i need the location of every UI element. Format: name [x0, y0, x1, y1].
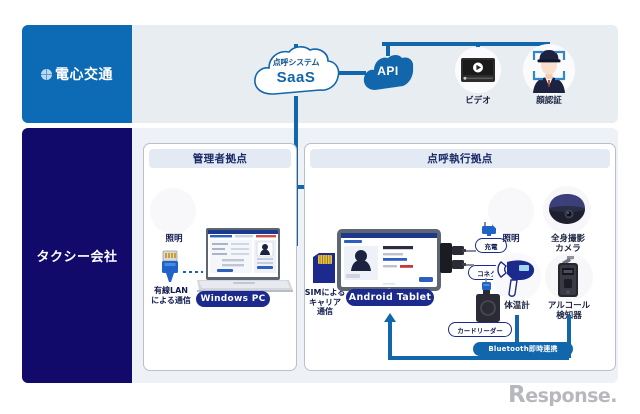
connector-bluetooth-bus [388, 356, 569, 360]
panel-admin-title: 管理者拠点 [193, 151, 248, 166]
card-reader-label: カードリーダー [457, 325, 503, 335]
watermark-text: esponse. [525, 385, 617, 407]
face-recognition-icon [526, 47, 572, 93]
watermark: Response. [508, 382, 617, 408]
segment-label-block: タクシー会社 [22, 128, 132, 383]
card-reader-pill: カードリーダー [448, 322, 512, 337]
thermometer-circle [493, 253, 541, 301]
sim-card-icon [310, 253, 338, 285]
lighting-left [150, 188, 200, 234]
connector-top-bus [382, 42, 548, 46]
cloud-system-label: 点呼システム [250, 57, 342, 68]
face-label: 顔認証 [514, 97, 584, 107]
arrow-up-tablet [384, 309, 396, 318]
alcohol-circle [545, 253, 593, 301]
alcohol-detector-icon [550, 255, 588, 299]
android-tablet-illustration [337, 229, 441, 295]
video-label: ビデオ [443, 97, 513, 107]
windows-pc-pill: Windows PC [196, 291, 270, 307]
api-label: API [362, 64, 414, 78]
video-icon-circle [455, 47, 501, 93]
lan-label-line1: 有線LAN [154, 286, 188, 295]
panel-rollcall-header: 点呼執行拠点 [310, 149, 610, 168]
laptop-icon [197, 228, 293, 296]
lighting-left-label: 照明 [150, 234, 198, 244]
connector-charge-hub [466, 250, 476, 252]
connector-bt-to-tablet [388, 316, 392, 360]
dome-camera-icon [547, 193, 587, 227]
tablet-icon [337, 229, 441, 295]
diagram-canvas: 電心交通 タクシー会社 点呼システム SaaS API [0, 0, 640, 414]
sim-label-line3: 通信 [317, 307, 333, 316]
android-tablet-pill: Android Tablet [346, 289, 434, 306]
lighting-right [488, 188, 538, 234]
windows-pc-illustration [197, 228, 293, 296]
windows-pc-label: Windows PC [200, 294, 265, 304]
cloud-saas-label: SaaS [250, 69, 342, 86]
company-logo-block: 電心交通 [22, 25, 132, 123]
watermark-initial: R [508, 382, 525, 408]
video-player-icon [461, 58, 495, 82]
camera-circle [543, 186, 591, 234]
panel-rollcall-title: 点呼執行拠点 [427, 151, 492, 166]
usb-hub-icon [440, 243, 466, 273]
bluetooth-label: Bluetooth即時連携 [488, 344, 557, 354]
ethernet-plug-wrap [157, 250, 183, 282]
globe-icon [41, 69, 52, 80]
face-icon-circle [523, 44, 575, 96]
segment-label: タクシー会社 [36, 246, 117, 265]
lighting-right-label: 照明 [487, 234, 535, 244]
lan-label: 有線LAN による通信 [146, 286, 196, 305]
connector-hub-card [466, 264, 474, 266]
alcohol-label-line1: アルコール [548, 301, 590, 311]
api-cloud: API [362, 52, 414, 94]
camera-label: 全身撮影 カメラ [540, 235, 596, 255]
saas-cloud: 点呼システム SaaS [250, 44, 342, 100]
panel-admin-header: 管理者拠点 [149, 149, 291, 168]
company-name: 電心交通 [55, 64, 113, 84]
thermometer-gun-icon [495, 256, 539, 298]
camera-label-line1: 全身撮影 [551, 234, 585, 244]
sim-card-wrap [310, 253, 338, 285]
usb-hub [440, 243, 466, 273]
android-tablet-label: Android Tablet [349, 292, 431, 303]
bluetooth-pill: Bluetooth即時連携 [473, 342, 573, 356]
ethernet-plug-icon [157, 250, 183, 282]
lan-label-line2: による通信 [151, 296, 191, 305]
thermometer-label: 体温計 [493, 302, 541, 312]
sim-label-line2: キャリア [309, 298, 341, 307]
